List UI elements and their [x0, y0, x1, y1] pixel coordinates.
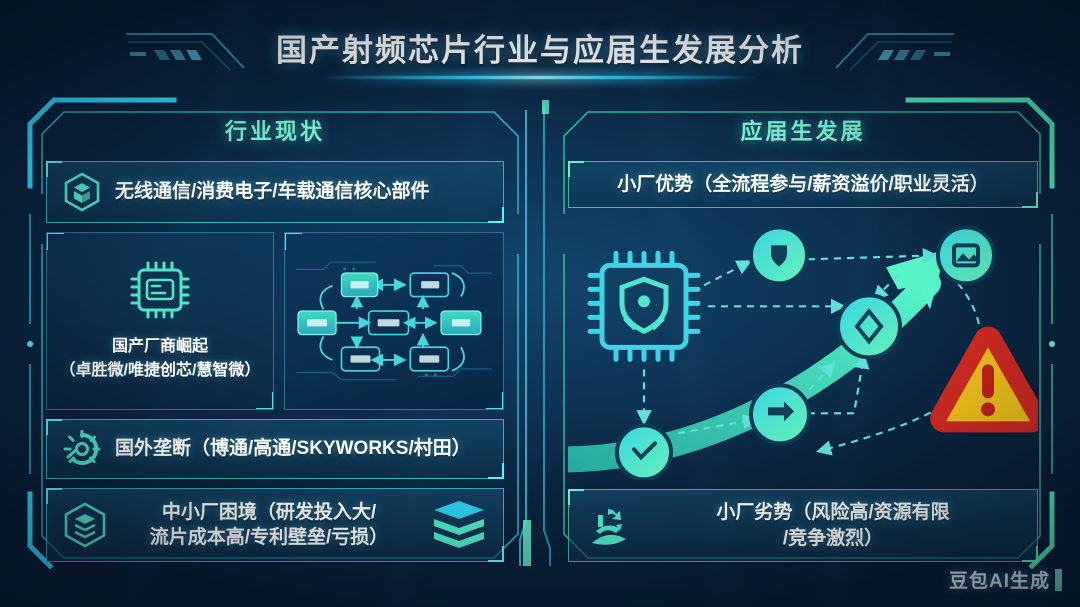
row-core-components-label: 无线通信/消费电子/车载通信核心部件 — [115, 179, 487, 204]
row-sme-difficulty-label: 中小厂困境（研发投入大/ 流片成本高/专利壁垒/亏损） — [121, 500, 417, 551]
row-sme-line1: 中小厂困境（研发投入大/ — [121, 500, 417, 525]
graphic-node — [617, 426, 671, 480]
row-core-components[interactable]: 无线通信/消费电子/车载通信核心部件 — [46, 161, 504, 223]
hexagon-cube-icon — [63, 172, 101, 212]
page-title-bar: 国产射频芯片行业与应届生发展分析 — [0, 16, 1080, 78]
center-divider — [516, 100, 556, 570]
panel-industry-status: 行业现状 无线通信/消费电子/车载通信核心部件 — [24, 94, 524, 574]
row-disadv-line1: 小厂劣势（风险高/资源有限 — [645, 500, 1021, 525]
stacked-layers-icon — [431, 499, 487, 551]
panel-right-body: 应届生发展 小厂优势（全流程参与/薪资溢价/职业灵活） — [556, 104, 1050, 566]
growth-graphic-svg — [568, 217, 1038, 480]
card-flow-diagram[interactable] — [284, 232, 504, 410]
card-caption-line1: 国产厂商崛起 — [60, 335, 261, 358]
graphic-node — [751, 386, 809, 444]
graphic-node — [838, 296, 900, 358]
row-disadv-line2: /竞争激烈） — [645, 526, 1021, 551]
left-middle-split: 国产厂商崛起 （卓胜微/唯捷创芯/慧智微） — [46, 232, 504, 410]
title-decoration-right-icon — [828, 22, 958, 74]
row-foreign-monopoly-label: 国外垄断（博通/高通/SKYWORKS/村田） — [115, 436, 487, 461]
row-foreign-monopoly[interactable]: 国外垄断（博通/高通/SKYWORKS/村田） — [46, 419, 504, 479]
graphic-node — [938, 228, 994, 284]
panel-left-heading: 行业现状 — [46, 110, 504, 152]
row-small-firm-disadvantages[interactable]: 小厂劣势（风险高/资源有限 /竞争激烈） — [568, 489, 1038, 562]
page-title: 国产射频芯片行业与应届生发展分析 — [276, 25, 804, 70]
infographic-canvas: 国产射频芯片行业与应届生发展分析 行业现状 — [0, 0, 1080, 607]
watermark: 豆包AI生成 — [949, 566, 1062, 593]
gear-chip-icon — [63, 430, 101, 468]
microchip-icon — [129, 260, 191, 325]
watermark-text: 豆包AI生成 — [949, 566, 1050, 593]
title-underline — [320, 76, 760, 79]
panel-left-body: 行业现状 无线通信/消费电子/车载通信核心部件 — [34, 104, 516, 566]
card-caption-line2: （卓胜微/唯捷创芯/慧智微） — [60, 359, 261, 382]
person-growth-icon — [585, 503, 631, 549]
row-small-firm-advantages-label: 小厂优势（全流程参与/薪资溢价/职业灵活） — [585, 172, 1021, 197]
row-small-firm-advantages[interactable]: 小厂优势（全流程参与/薪资溢价/职业灵活） — [568, 161, 1038, 208]
panel-right-heading: 应届生发展 — [568, 110, 1038, 152]
panel-graduate-development: 应届生发展 小厂优势（全流程参与/薪资溢价/职业灵活） — [546, 94, 1058, 574]
row-sme-difficulty[interactable]: 中小厂困境（研发投入大/ 流片成本高/专利壁垒/亏损） — [46, 488, 504, 562]
warning-triangle-icon — [930, 327, 1038, 433]
row-small-firm-disadvantages-label: 小厂劣势（风险高/资源有限 /竞争激烈） — [645, 500, 1021, 551]
row-sme-line2: 流片成本高/专利壁垒/亏损） — [121, 525, 417, 550]
title-decoration-left-icon — [122, 22, 252, 74]
card-domestic-vendors-caption: 国产厂商崛起 （卓胜微/唯捷创芯/慧智微） — [60, 335, 261, 381]
card-domestic-vendors[interactable]: 国产厂商崛起 （卓胜微/唯捷创芯/慧智微） — [46, 232, 274, 410]
flow-diagram-icon — [289, 237, 499, 405]
chip-shield-icon — [590, 254, 698, 360]
watermark-bar-icon — [1055, 569, 1062, 591]
hexagon-layers-icon — [63, 502, 107, 548]
growth-graphic — [568, 217, 1038, 480]
graphic-node — [751, 228, 807, 284]
